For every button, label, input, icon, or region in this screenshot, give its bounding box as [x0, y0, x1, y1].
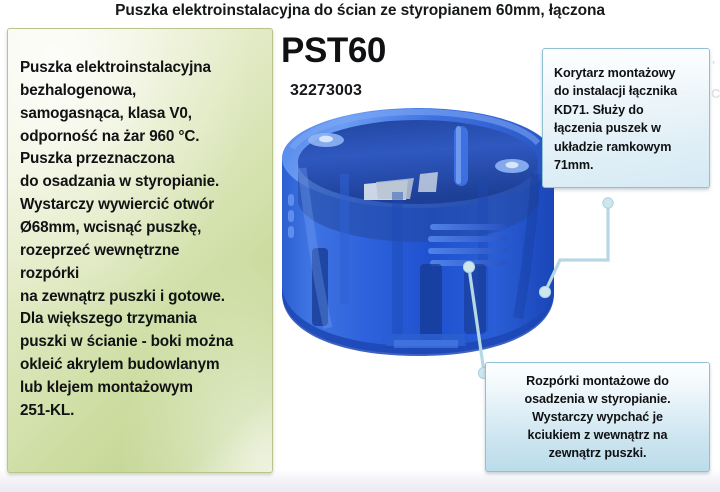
product-image — [268, 96, 568, 364]
description-panel: Puszka elektroinstalacyjna bezhalogenowa… — [7, 28, 273, 473]
product-name: PST60 — [281, 33, 386, 68]
callout-channel-text: Korytarz montażowy do instalacji łącznik… — [543, 49, 709, 174]
description-text: Puszka elektroinstalacyjna bezhalogenowa… — [8, 29, 272, 423]
callout-struts: Rozpórki montażowe do osadzenia w styrop… — [485, 362, 710, 472]
edge-artifact-mark-2: C — [711, 86, 720, 101]
bottom-gradient-band — [0, 470, 720, 492]
poster-canvas: Puszka elektroinstalacyjna do ścian ze s… — [0, 0, 720, 492]
callout-channel: Korytarz montażowy do instalacji łącznik… — [542, 48, 710, 188]
leader-dot-channel-end — [603, 198, 613, 208]
edge-artifact-mark-1: ' — [712, 58, 715, 73]
callout-struts-text: Rozpórki montażowe do osadzenia w styrop… — [486, 363, 709, 462]
page-title: Puszka elektroinstalacyjna do ścian ze s… — [0, 2, 720, 20]
